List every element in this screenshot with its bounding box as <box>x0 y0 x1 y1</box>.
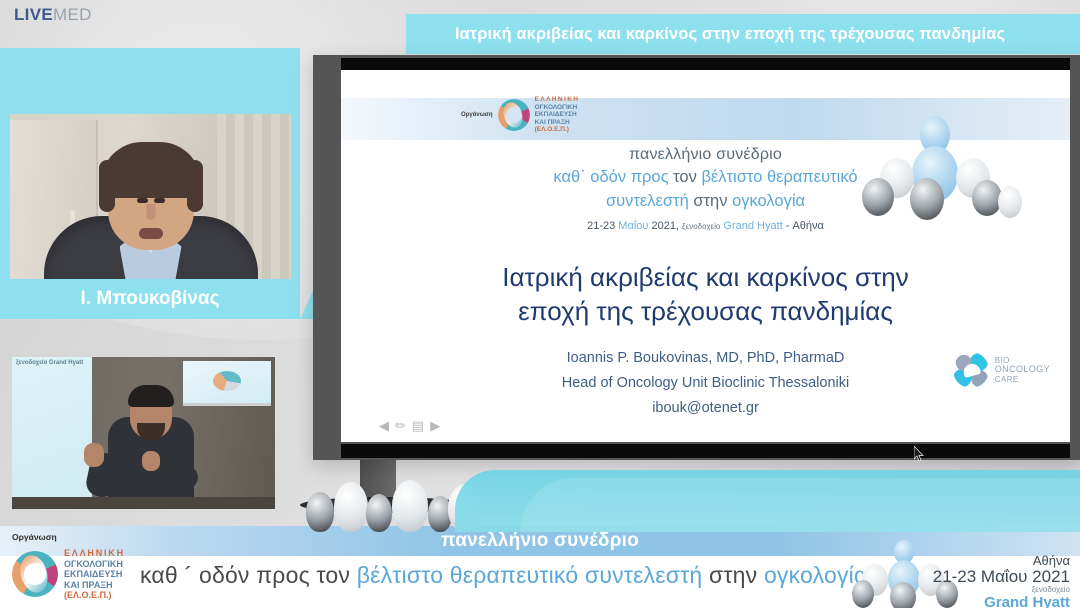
footer-tagline: καθ ´ οδόν προς τον βέλτιστο θεραπευτικό… <box>140 562 867 589</box>
deco-pin <box>334 482 368 532</box>
organizer-label: Οργάνωση <box>461 112 493 118</box>
footer-tagline-part-a: καθ ´ οδόν προς τον <box>140 562 357 588</box>
eloep-line-1: ΕΛΛΗΝΙΚΗ <box>535 96 580 104</box>
shared-screen-monitor[interactable]: Οργάνωση ΕΛΛΗΝΙΚΗ ΟΓΚΟΛΟΓΙΚΗ ΕΚΠΑΙΔΕΥΣΗ … <box>313 55 1080 460</box>
footer-eloep-line-1: ΕΛΛΗΝΙΚΗ <box>64 548 125 559</box>
slide-pin-graphic <box>862 116 1022 222</box>
speaker-eye-left <box>154 198 165 203</box>
footer-eloep-line-2: ΟΓΚΟΛΟΓΙΚΗ <box>64 559 125 570</box>
boc-line-3: CARE <box>995 375 1050 385</box>
speaker-eye-right <box>137 198 148 203</box>
footer-eloep-text: ΕΛΛΗΝΙΚΗ ΟΓΚΟΛΟΓΙΚΗ ΕΚΠΑΙΔΕΥΣΗ ΚΑΙ ΠΡΑΞΗ… <box>64 548 125 601</box>
next-slide-icon[interactable]: ▶ <box>430 419 440 432</box>
eloep-line-2: ΟΓΚΟΛΟΓΙΚΗ <box>535 104 580 112</box>
tagline-part-f: ογκολογία <box>732 192 805 210</box>
speaker-hair <box>101 142 201 198</box>
interpreter-projection-screen: ξενοδοχείο Grand Hyatt <box>12 357 92 505</box>
tagline-part-c: βέλτιστο θεραπευτικό <box>701 168 857 186</box>
slide-menu-icon[interactable]: ▤ <box>412 419 424 432</box>
eloep-swirl-core <box>16 553 51 597</box>
footer-tagline-part-c: στην <box>702 562 764 588</box>
tagline-part-a: καθ᾽ οδόν προς <box>553 168 668 186</box>
speaker-mouth <box>139 228 163 239</box>
interpreter-hair <box>128 385 174 407</box>
tagline-part-e: στην <box>689 192 732 210</box>
slide-author-block: Ioannis P. Boukovinas, MD, PhD, PharmaD … <box>401 346 1010 421</box>
interpreter-hand-left <box>84 443 104 467</box>
slide-title-line-2: εποχή της τρέχουσας πανδημίας <box>401 294 1010 328</box>
footer-eloep-line-5: (ΕΛ.Ο.Ε.Π.) <box>64 590 125 601</box>
previous-slide-icon[interactable]: ◀ <box>379 419 389 432</box>
logo-text-med: MED <box>53 5 92 24</box>
interpreter-hand-right <box>142 451 160 471</box>
date-city: - Αθήνα <box>783 220 824 232</box>
interpreter-screen-text: ξενοδοχείο Grand Hyatt <box>16 360 83 366</box>
boc-line-2: ONCOLOGY <box>995 365 1050 375</box>
author-email: ibouk@otenet.gr <box>401 396 1010 421</box>
footer-dates: 21-23 Μαΐου 2021 <box>933 568 1070 586</box>
date-venue: Grand Hyatt <box>720 220 782 232</box>
footer-city: Αθήνα <box>933 554 1070 568</box>
pin-dark <box>862 178 894 216</box>
date-month: Μαΐου <box>618 220 648 232</box>
eloep-line-5: (ΕΛ.Ο.Ε.Π.) <box>535 126 580 134</box>
footer-organizer-label: Οργάνωση <box>12 532 57 542</box>
footer-eloep-line-3: ΕΚΠΑΙΔΕΥΣΗ <box>64 569 125 580</box>
mouse-cursor-icon <box>914 446 925 462</box>
eloep-swirl-icon <box>498 99 530 131</box>
date-range: 21-23 <box>587 220 618 232</box>
speaker-figure <box>36 142 266 286</box>
livemed-logo: LIVEMED <box>14 5 92 25</box>
eloep-swirl-core <box>500 100 525 130</box>
bio-oncology-care-logo: BIO ONCOLOGY CARE <box>953 352 1050 388</box>
slide-main-title: Ιατρική ακριβείας και καρκίνος στην εποχ… <box>401 260 1010 328</box>
pin-dark <box>890 582 916 608</box>
tagline-part-b: τον <box>669 168 702 186</box>
author-affiliation: Head of Oncology Unit Bioclinic Thessalo… <box>401 371 1010 396</box>
pin-white <box>998 186 1022 218</box>
monitor-top-bezel <box>341 58 1070 70</box>
eloep-logo: Οργάνωση ΕΛΛΗΝΙΚΗ ΟΓΚΟΛΟΓΙΚΗ ΕΚΠΑΙΔΕΥΣΗ … <box>461 96 579 134</box>
tagline-part-d: συντελεστή <box>606 192 689 210</box>
date-year: 2021, <box>648 220 682 232</box>
interpreter-table <box>12 497 275 509</box>
webinar-stage: LIVEMED Ιατρική ακριβείας και καρκίνος σ… <box>0 0 1080 608</box>
speaker-webcam[interactable] <box>10 114 291 286</box>
presentation-slide: Οργάνωση ΕΛΛΗΝΙΚΗ ΟΓΚΟΛΟΓΙΚΗ ΕΚΠΑΙΔΕΥΣΗ … <box>341 70 1070 442</box>
footer-event-details: Αθήνα 21-23 Μαΐου 2021 ξενοδοχείο Grand … <box>933 554 1070 608</box>
footer-eloep-logo: ΕΛΛΗΝΙΚΗ ΟΓΚΟΛΟΓΙΚΗ ΕΚΠΑΙΔΕΥΣΗ ΚΑΙ ΠΡΑΞΗ… <box>12 548 125 601</box>
decorative-wave-highlight <box>520 478 1080 532</box>
session-title-bar: Ιατρική ακριβείας και καρκίνος στην εποχ… <box>406 14 1080 54</box>
author-name: Ioannis P. Boukovinas, MD, PhD, PharmaD <box>401 346 1010 371</box>
pin-dark <box>852 580 874 608</box>
eloep-line-4: ΚΑΙ ΠΡΑΞΗ <box>535 119 580 127</box>
bio-oncology-text: BIO ONCOLOGY CARE <box>995 356 1050 385</box>
logo-text-live: LIVE <box>14 5 53 24</box>
pen-tool-icon[interactable]: ✏ <box>395 419 406 432</box>
speaker-nose <box>146 204 155 220</box>
deco-pin <box>306 492 334 532</box>
date-hotel-label: ξενοδοχείο <box>682 222 720 231</box>
eloep-logo-text: ΕΛΛΗΝΙΚΗ ΟΓΚΟΛΟΓΙΚΗ ΕΚΠΑΙΔΕΥΣΗ ΚΑΙ ΠΡΑΞΗ… <box>535 96 580 134</box>
deco-pin <box>366 494 392 532</box>
bio-oncology-icon <box>953 352 989 388</box>
slide-title-line-1: Ιατρική ακριβείας και καρκίνος στην <box>401 260 1010 294</box>
eloep-swirl-icon <box>12 551 58 597</box>
slide-navigation-controls[interactable]: ◀ ✏ ▤ ▶ <box>379 419 440 432</box>
speaker-name-banner: Ι. Μπουκοβίνας <box>0 279 300 319</box>
pin-dark <box>910 178 944 220</box>
eloep-swirl-icon <box>213 371 241 391</box>
speaker-name: Ι. Μπουκοβίνας <box>81 288 220 310</box>
footer-eloep-line-4: ΚΑΙ ΠΡΑΞΗ <box>64 580 125 591</box>
event-footer-bar: πανελλήνιο συνέδριο Οργάνωση ΕΛΛΗΝΙΚΗ ΟΓ… <box>0 526 1080 608</box>
monitor-bottom-bezel <box>341 444 1070 458</box>
interpreter-secondary-screen <box>183 361 271 406</box>
sign-language-interpreter-video[interactable]: ξενοδοχείο Grand Hyatt <box>12 357 275 509</box>
interpreter-figure <box>108 383 194 509</box>
deco-pin <box>392 480 428 532</box>
session-title: Ιατρική ακριβείας και καρκίνος στην εποχ… <box>455 25 1031 44</box>
shared-slide-area[interactable]: Οργάνωση ΕΛΛΗΝΙΚΗ ΟΓΚΟΛΟΓΙΚΗ ΕΚΠΑΙΔΕΥΣΗ … <box>341 70 1070 442</box>
footer-tagline-part-b: βέλτιστο θεραπευτικό συντελεστή <box>357 562 703 588</box>
eloep-line-3: ΕΚΠΑΙΔΕΥΣΗ <box>535 111 580 119</box>
footer-venue: Grand Hyatt <box>933 595 1070 608</box>
